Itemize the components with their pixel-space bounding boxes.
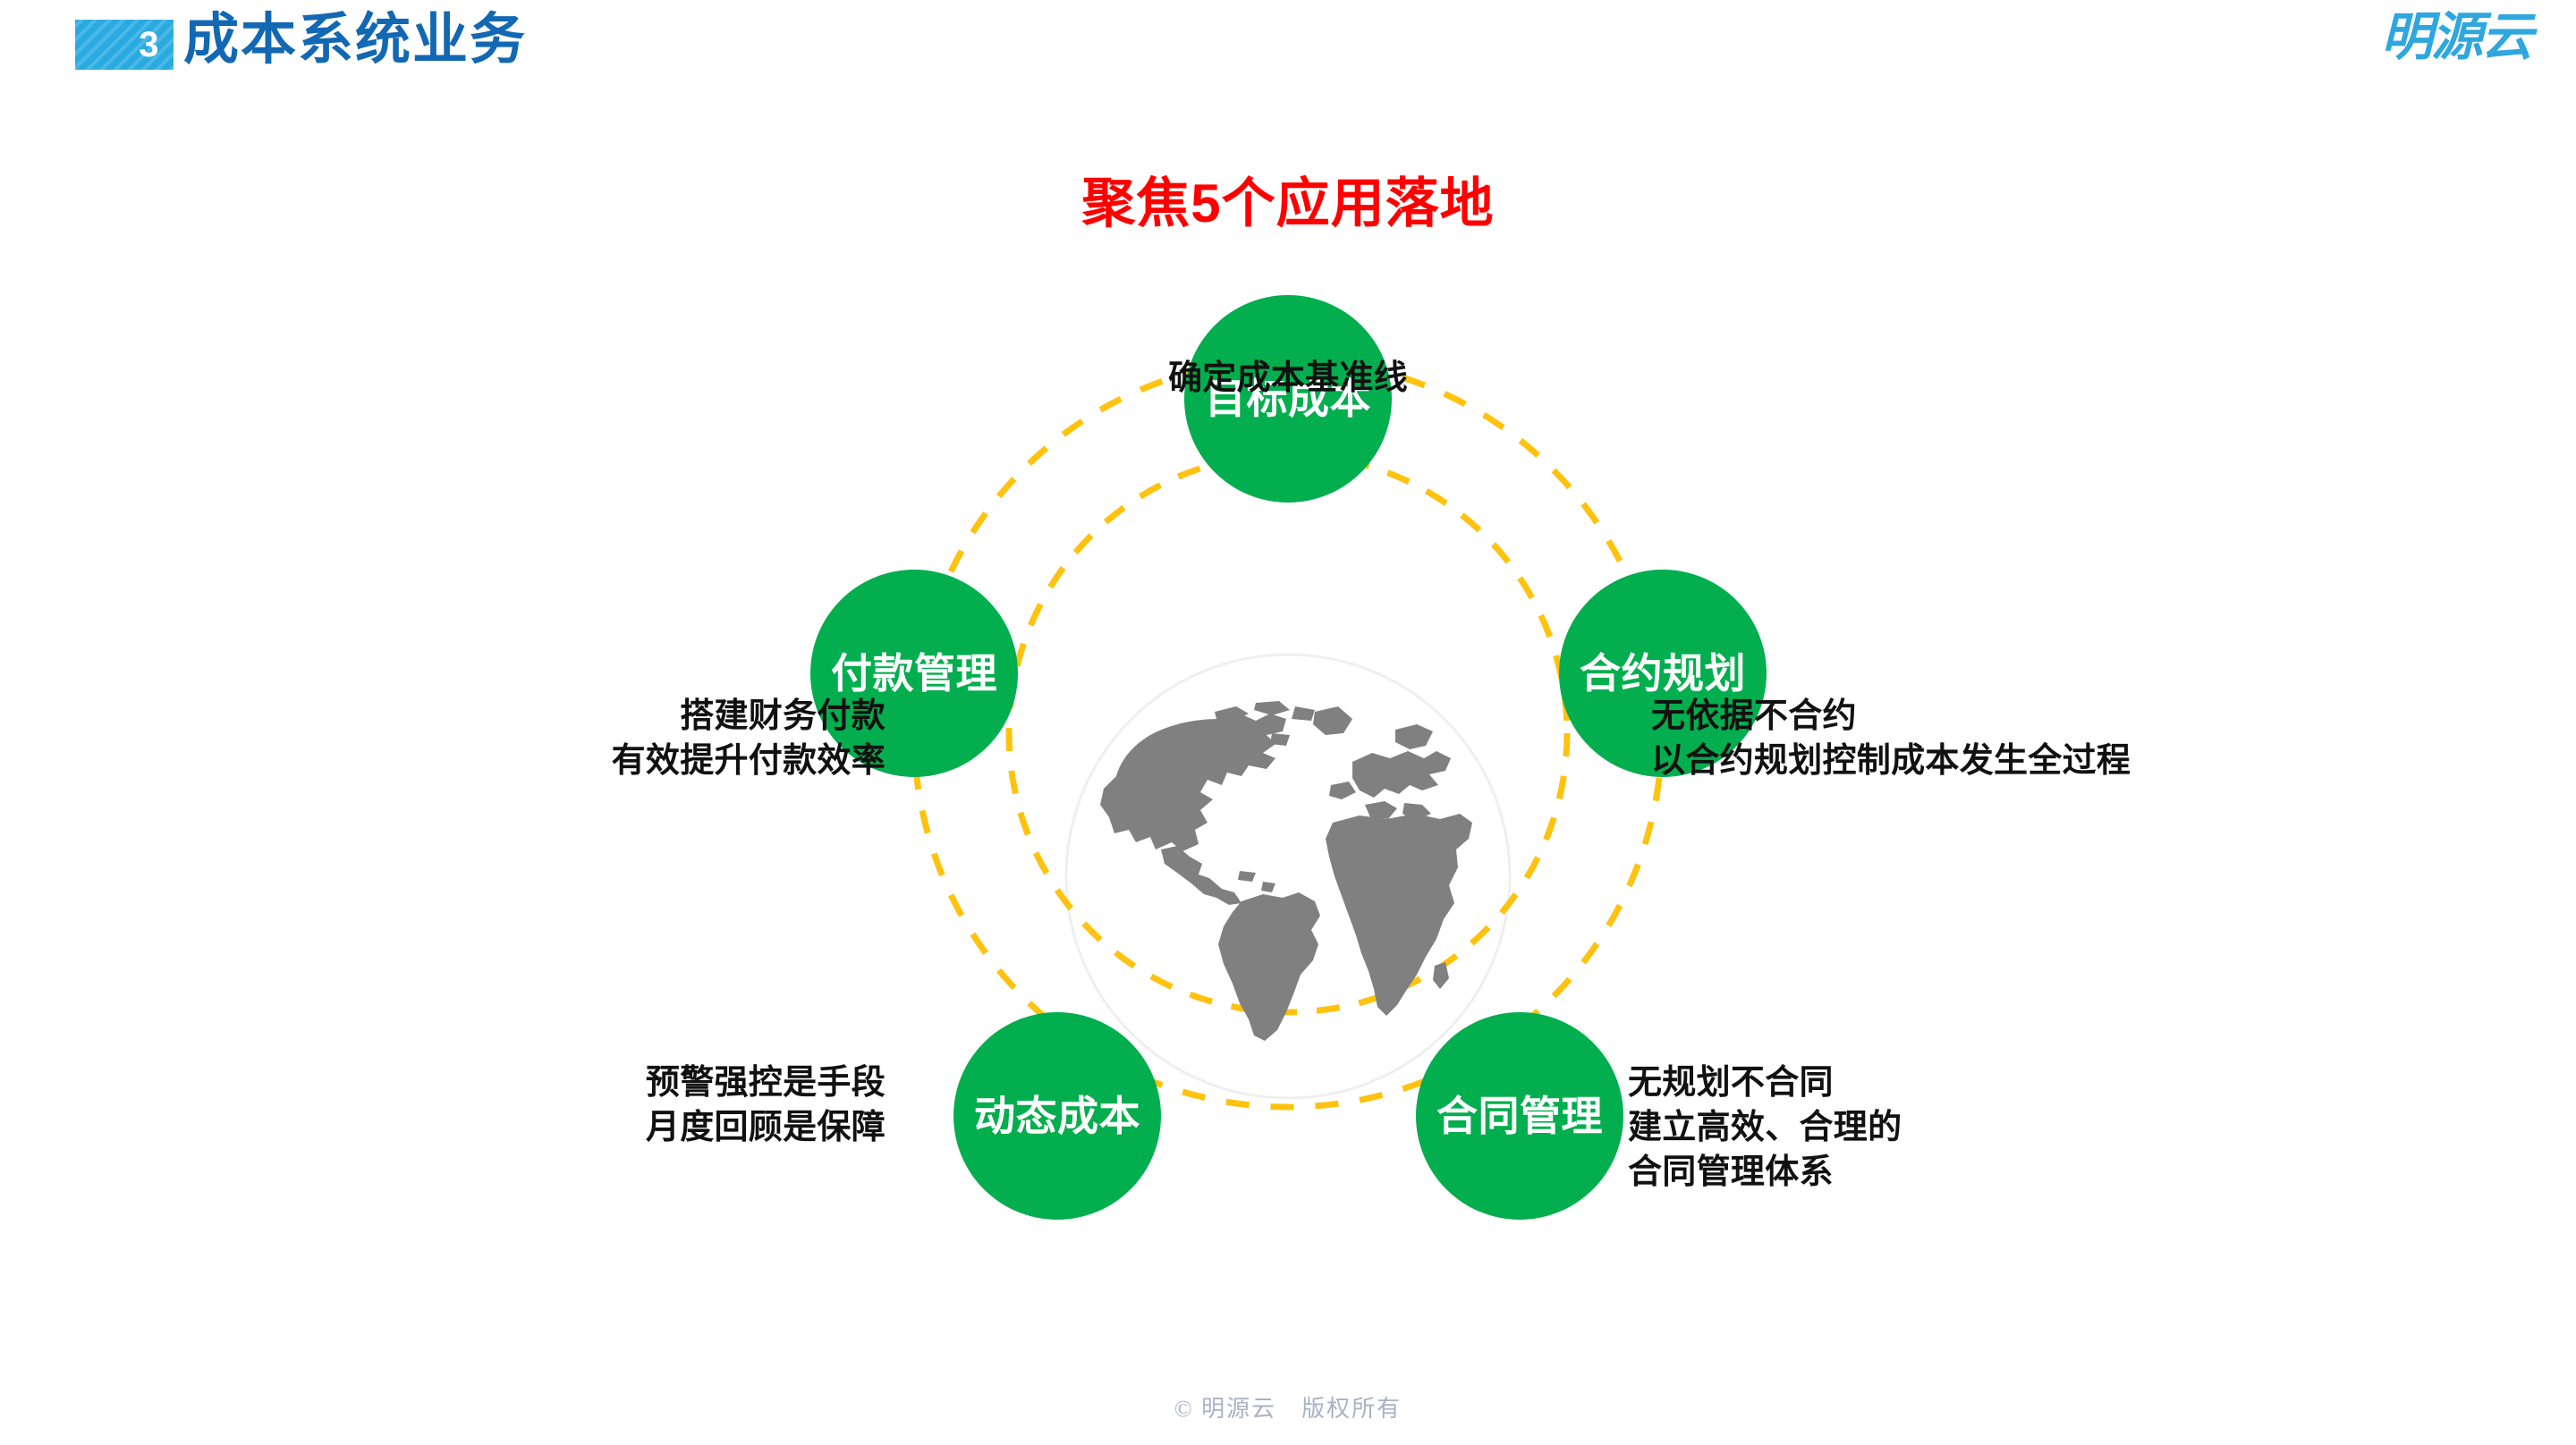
section-number-badge: 3: [75, 20, 174, 70]
globe-icon: [1064, 680, 1512, 1073]
slide-root: 3 成本系统业务 明源云 聚焦5个应用落地: [0, 0, 2576, 1445]
slide-header: 3 成本系统业务 明源云: [0, 0, 2576, 89]
caption-payment-management: 搭建财务付款 有效提升付款效率: [161, 694, 885, 783]
node-dynamic-cost[interactable]: 动态成本: [953, 1012, 1161, 1220]
node-label: 合同管理: [1436, 1095, 1603, 1137]
node-label: 动态成本: [974, 1095, 1140, 1137]
section-number-label: 3: [139, 27, 159, 63]
caption-contract-plan: 无依据不合约 以合约规划控制成本发生全过程: [1651, 694, 2131, 783]
page-title: 成本系统业务: [183, 5, 527, 75]
footer-copyright: © 明源云 版权所有: [0, 1390, 2576, 1424]
brand-logo: 明源云: [2381, 11, 2531, 63]
brand-logo-text: 明源云: [2381, 11, 2531, 63]
caption-dynamic-cost: 预警强控是手段 月度回顾是保障: [161, 1061, 885, 1150]
main-title: 聚焦5个应用落地: [0, 172, 2576, 236]
node-contract-management[interactable]: 合同管理: [1416, 1012, 1623, 1220]
caption-contract-management: 无规划不合同 建立高效、合理的 合同管理体系: [1628, 1061, 1902, 1195]
node-label: 付款管理: [831, 653, 997, 694]
caption-target-cost: 确定成本基准线: [0, 356, 2576, 401]
node-label: 合约规划: [1580, 653, 1746, 694]
